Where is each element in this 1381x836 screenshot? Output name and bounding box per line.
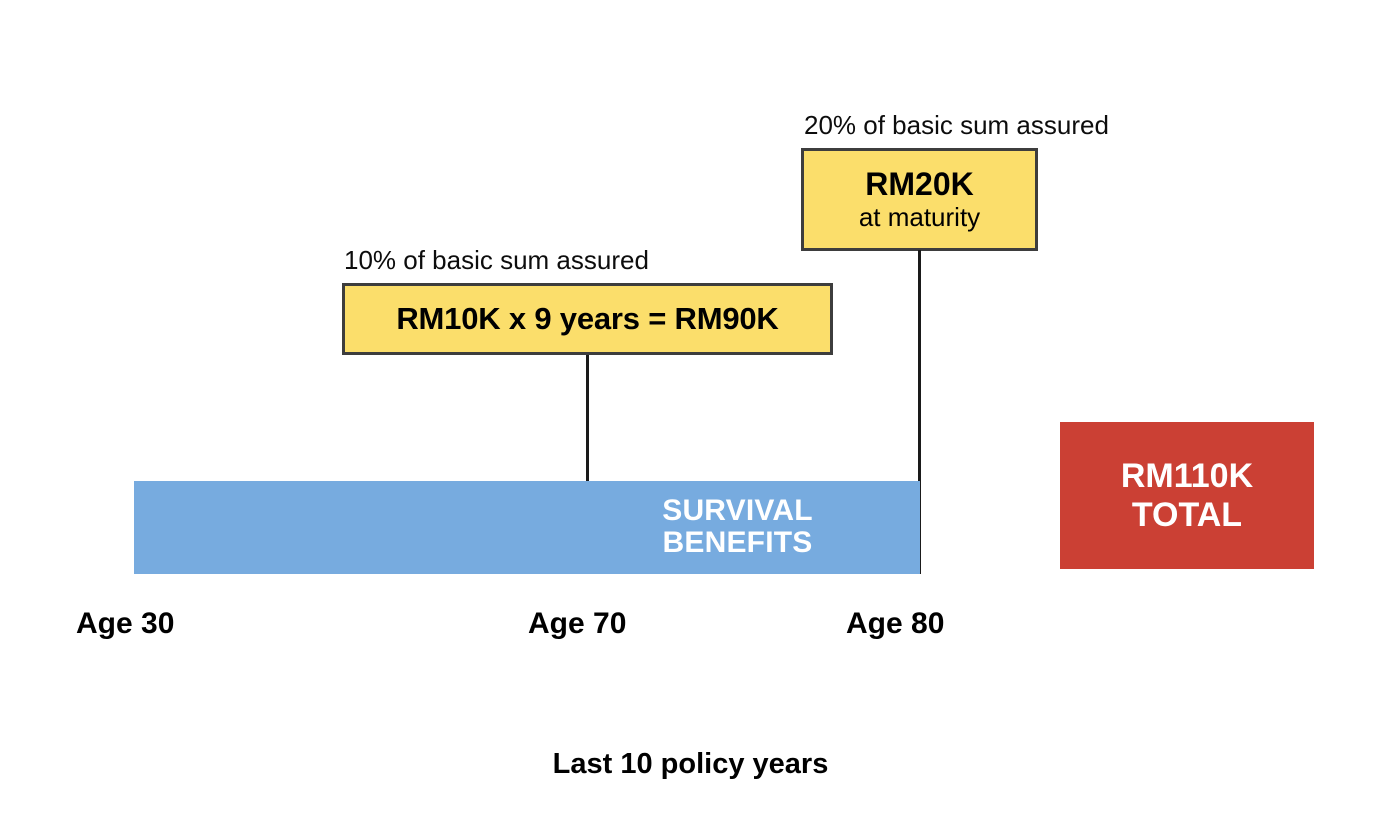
survival-benefits-label-line1: SURVIVAL (560, 495, 915, 527)
annotation-ten-percent: 10% of basic sum assured (344, 245, 649, 276)
callout-maturity-subtext: at maturity (859, 203, 980, 232)
axis-label-age-30: Age 30 (76, 607, 174, 641)
survival-benefits-label: SURVIVAL BENEFITS (560, 495, 915, 560)
survival-benefits-label-line2: BENEFITS (560, 527, 915, 559)
callout-maturity-payout: RM20K at maturity (801, 148, 1038, 251)
axis-label-age-80: Age 80 (846, 607, 944, 641)
axis-label-age-70: Age 70 (528, 607, 626, 641)
total-amount-box: RM110K TOTAL (1060, 422, 1314, 569)
callout-survival-payout: RM10K x 9 years = RM90K (342, 283, 833, 355)
total-amount-value: RM110K (1121, 457, 1253, 496)
footer-caption: Last 10 policy years (0, 748, 1381, 781)
benefit-timeline-diagram: 20% of basic sum assured RM20K at maturi… (0, 0, 1381, 836)
callout-survival-amount: RM10K x 9 years = RM90K (396, 301, 778, 337)
total-amount-caption: TOTAL (1132, 496, 1242, 535)
callout-maturity-amount: RM20K (865, 167, 973, 202)
annotation-twenty-percent: 20% of basic sum assured (804, 110, 1109, 141)
